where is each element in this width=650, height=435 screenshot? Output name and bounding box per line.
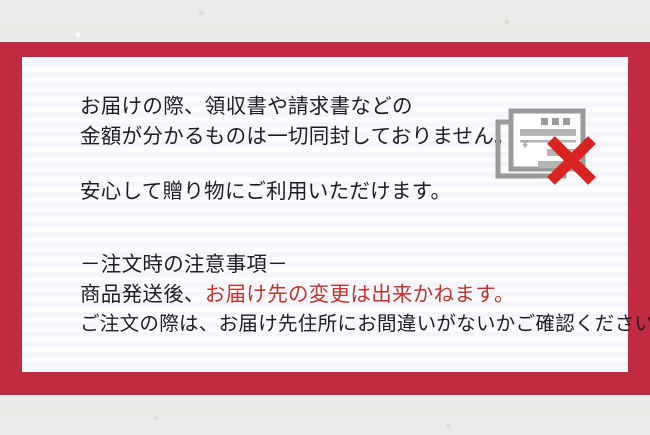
receipt-invoice-excluded-icon: ¥ xyxy=(492,105,602,200)
intro-line-2: 金額が分かるものは一切同封しておりません。 xyxy=(80,122,515,152)
notice-graphic: お届けの際、領収書や請求書などの 金額が分かるものは一切同封しておりません。 安… xyxy=(0,0,650,435)
order-notes-line-2: ご注文の際は、お届け先住所にお間違いがないかご確認ください。 xyxy=(80,310,650,340)
yen-symbol: ¥ xyxy=(521,139,529,151)
intro-paragraph: お届けの際、領収書や請求書などの 金額が分かるものは一切同封しておりません。 xyxy=(80,92,515,152)
order-notes-line-1-emphasis: お届け先の変更は出来かねます。 xyxy=(205,284,515,306)
intro-line-1: お届けの際、領収書や請求書などの xyxy=(80,92,515,122)
order-notes-line-1-prefix: 商品発送後、 xyxy=(80,284,205,306)
order-notes-heading: －注文時の注意事項－ xyxy=(80,250,650,280)
receipt-header-squares xyxy=(541,118,570,125)
white-notice-card: お届けの際、領収書や請求書などの 金額が分かるものは一切同封しておりません。 安… xyxy=(22,57,628,372)
order-notes-line-1: 商品発送後、お届け先の変更は出来かねます。 xyxy=(80,280,650,310)
assurance-line-1: 安心して贈り物にご利用いただけます。 xyxy=(80,177,451,207)
assurance-paragraph: 安心して贈り物にご利用いただけます。 xyxy=(80,177,451,207)
order-notes-paragraph: －注文時の注意事項－ 商品発送後、お届け先の変更は出来かねます。 ご注文の際は、… xyxy=(80,250,650,340)
